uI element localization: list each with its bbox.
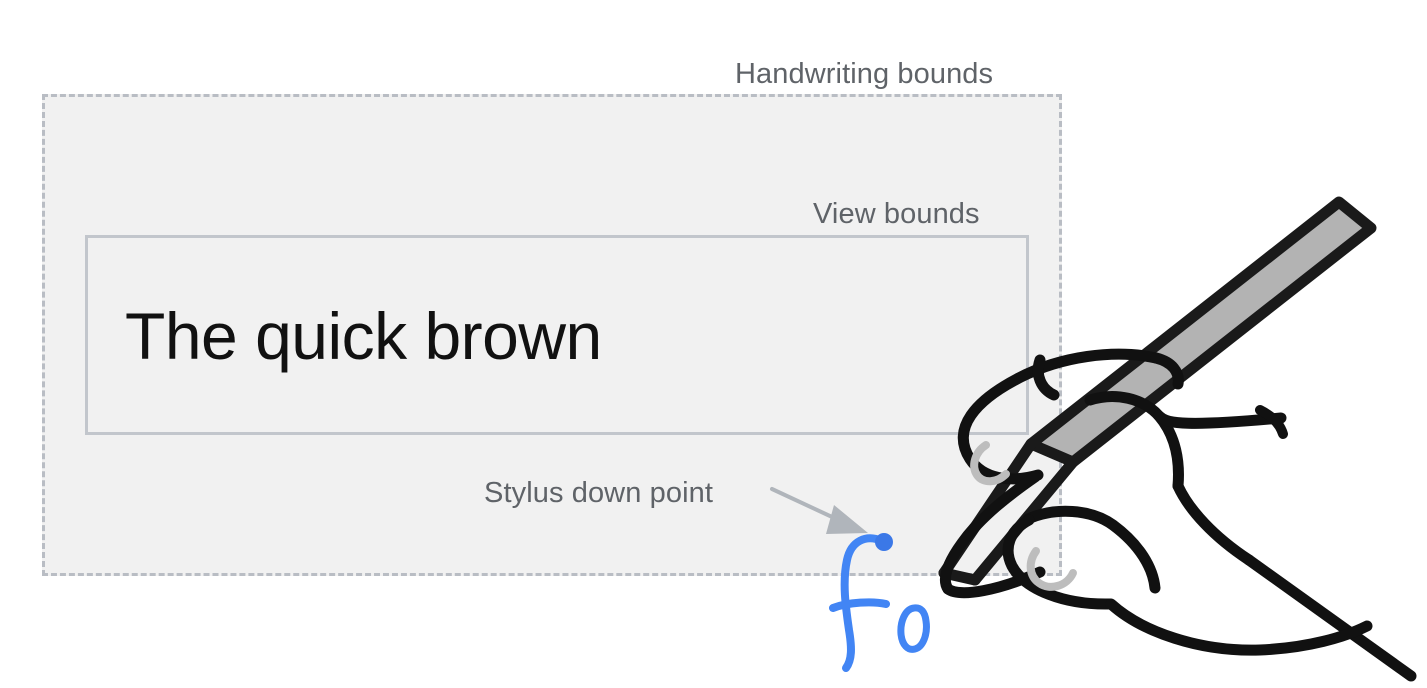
ink-glyph-zero [901,608,927,650]
stylus-down-point-label: Stylus down point [484,475,713,511]
recognized-text: The quick brown [125,296,602,376]
handwriting-bounds-label: Handwriting bounds [735,56,993,92]
view-bounds-label: View bounds [813,196,980,232]
diagram-canvas: Handwriting bounds View bounds The quick… [0,0,1427,688]
hand-knuckle-contour [1090,397,1281,560]
hand-outline [1111,560,1411,676]
ink-crossbar [833,602,886,608]
knuckle-crease [1260,410,1283,434]
